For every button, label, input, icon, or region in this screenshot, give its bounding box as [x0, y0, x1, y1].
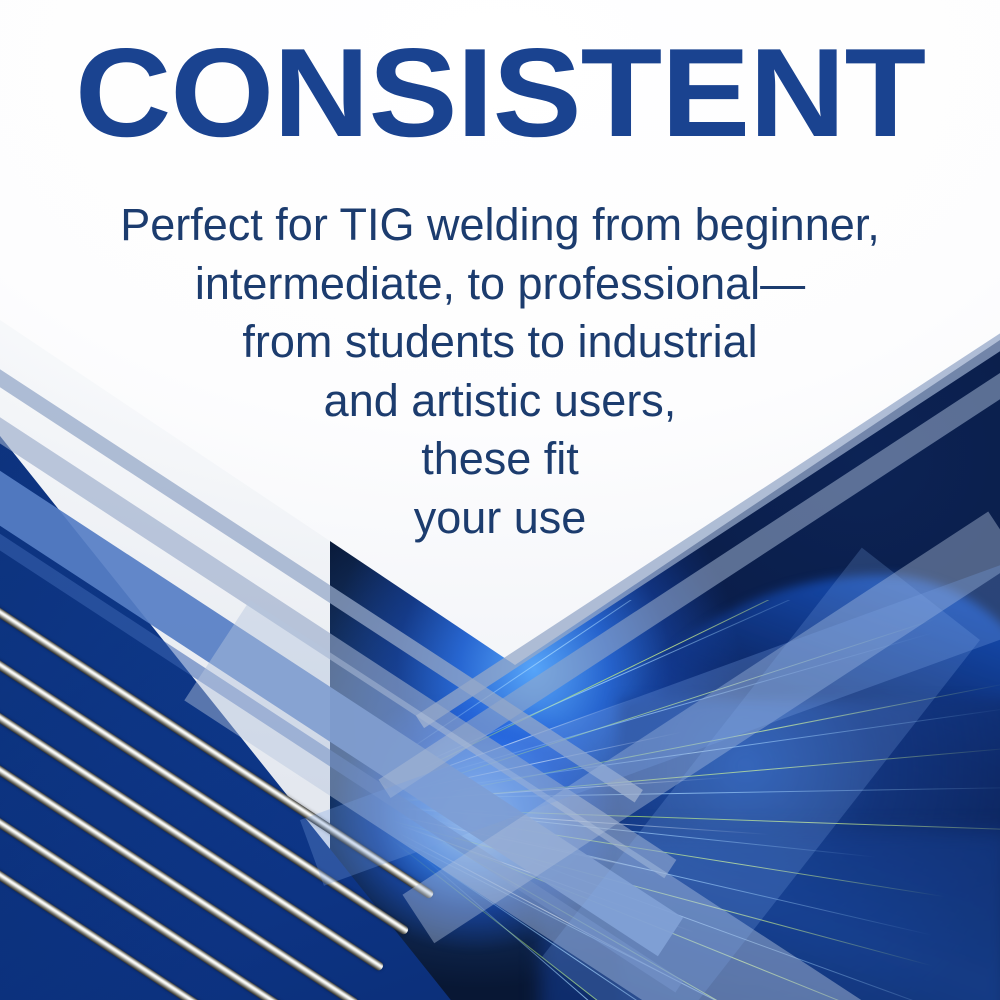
body-copy-line-3: from students to industrial [50, 313, 950, 372]
page-title: CONSISTENT [0, 30, 1000, 156]
promo-graphic: CONSISTENT Perfect for TIG welding from … [0, 0, 1000, 1000]
body-copy-line-2: intermediate, to professional— [50, 255, 950, 314]
body-copy-line-5: these fit [50, 430, 950, 489]
body-copy-line-4: and artistic users, [50, 372, 950, 431]
body-copy-line-6: your use [50, 489, 950, 548]
body-copy-line-1: Perfect for TIG welding from beginner, [50, 196, 950, 255]
body-copy: Perfect for TIG welding from beginner, i… [50, 196, 950, 547]
